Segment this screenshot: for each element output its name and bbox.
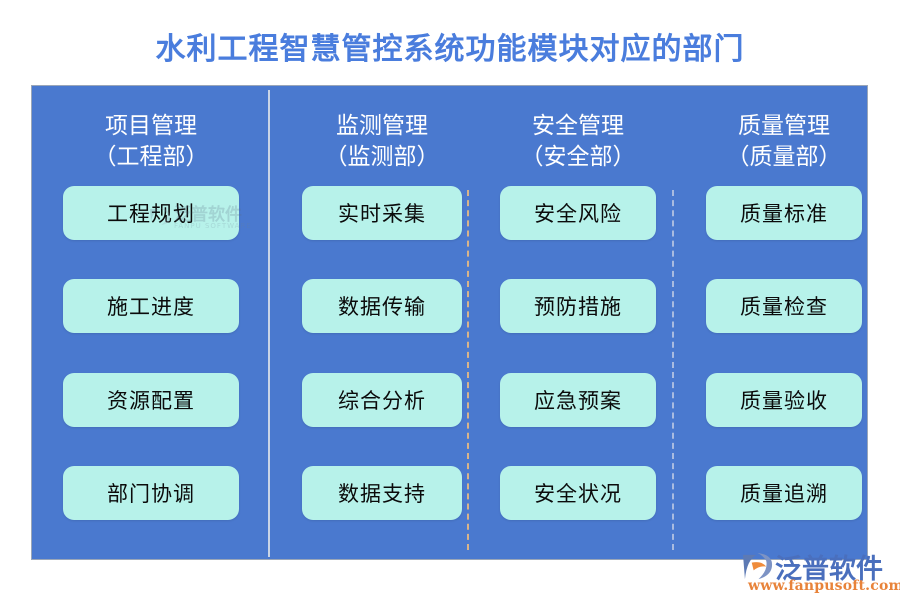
column-safety-management: 安全管理 （安全部） 安全风险 预防措施 应急预案 安全状况 xyxy=(500,86,656,561)
card-col3-row3[interactable]: 应急预案 xyxy=(500,373,656,427)
card-col4-row4[interactable]: 质量追溯 xyxy=(706,466,862,520)
column-header-3: 安全管理 （安全部） xyxy=(500,111,656,173)
card-col2-row4[interactable]: 数据支持 xyxy=(302,466,462,520)
card-col1-row2[interactable]: 施工进度 xyxy=(63,279,239,333)
card-col4-row2[interactable]: 质量检查 xyxy=(706,279,862,333)
column-project-management: 项目管理 （工程部） 工程规划 施工进度 资源配置 部门协调 xyxy=(63,86,239,561)
column-header-1-line2: （工程部） xyxy=(63,142,239,173)
page-title: 水利工程智慧管控系统功能模块对应的部门 xyxy=(0,30,900,70)
card-col3-row1[interactable]: 安全风险 xyxy=(500,186,656,240)
column-header-2-line2: （监测部） xyxy=(302,142,462,173)
column-header-2-line1: 监测管理 xyxy=(302,111,462,142)
card-col2-row2[interactable]: 数据传输 xyxy=(302,279,462,333)
card-col4-row1[interactable]: 质量标准 xyxy=(706,186,862,240)
brand-logo-url: www.fanpusoft.com xyxy=(748,578,900,594)
column-divider-1 xyxy=(268,90,270,557)
column-header-1-line1: 项目管理 xyxy=(63,111,239,142)
column-header-3-line2: （安全部） xyxy=(500,142,656,173)
card-col3-row4[interactable]: 安全状况 xyxy=(500,466,656,520)
card-col2-row1[interactable]: 实时采集 xyxy=(302,186,462,240)
column-header-1: 项目管理 （工程部） xyxy=(63,111,239,173)
diagram-board: 项目管理 （工程部） 工程规划 施工进度 资源配置 部门协调 监测管理 （监测部… xyxy=(31,85,868,560)
column-header-4-line2: （质量部） xyxy=(706,142,862,173)
column-header-2: 监测管理 （监测部） xyxy=(302,111,462,173)
card-col3-row2[interactable]: 预防措施 xyxy=(500,279,656,333)
card-col2-row3[interactable]: 综合分析 xyxy=(302,373,462,427)
column-divider-2 xyxy=(467,190,469,550)
column-quality-management: 质量管理 （质量部） 质量标准 质量检查 质量验收 质量追溯 xyxy=(706,86,862,561)
slide-canvas: 水利工程智慧管控系统功能模块对应的部门 项目管理 （工程部） 工程规划 施工进度… xyxy=(0,0,900,600)
card-col1-row3[interactable]: 资源配置 xyxy=(63,373,239,427)
column-header-4: 质量管理 （质量部） xyxy=(706,111,862,173)
card-col1-row4[interactable]: 部门协调 xyxy=(63,466,239,520)
column-header-3-line1: 安全管理 xyxy=(500,111,656,142)
card-col4-row3[interactable]: 质量验收 xyxy=(706,373,862,427)
column-monitoring-management: 监测管理 （监测部） 实时采集 数据传输 综合分析 数据支持 xyxy=(302,86,462,561)
card-col1-row1[interactable]: 工程规划 xyxy=(63,186,239,240)
column-divider-3 xyxy=(672,190,674,550)
column-header-4-line1: 质量管理 xyxy=(706,111,862,142)
brand-logo: 泛普软件 www.fanpusoft.com xyxy=(742,550,892,596)
